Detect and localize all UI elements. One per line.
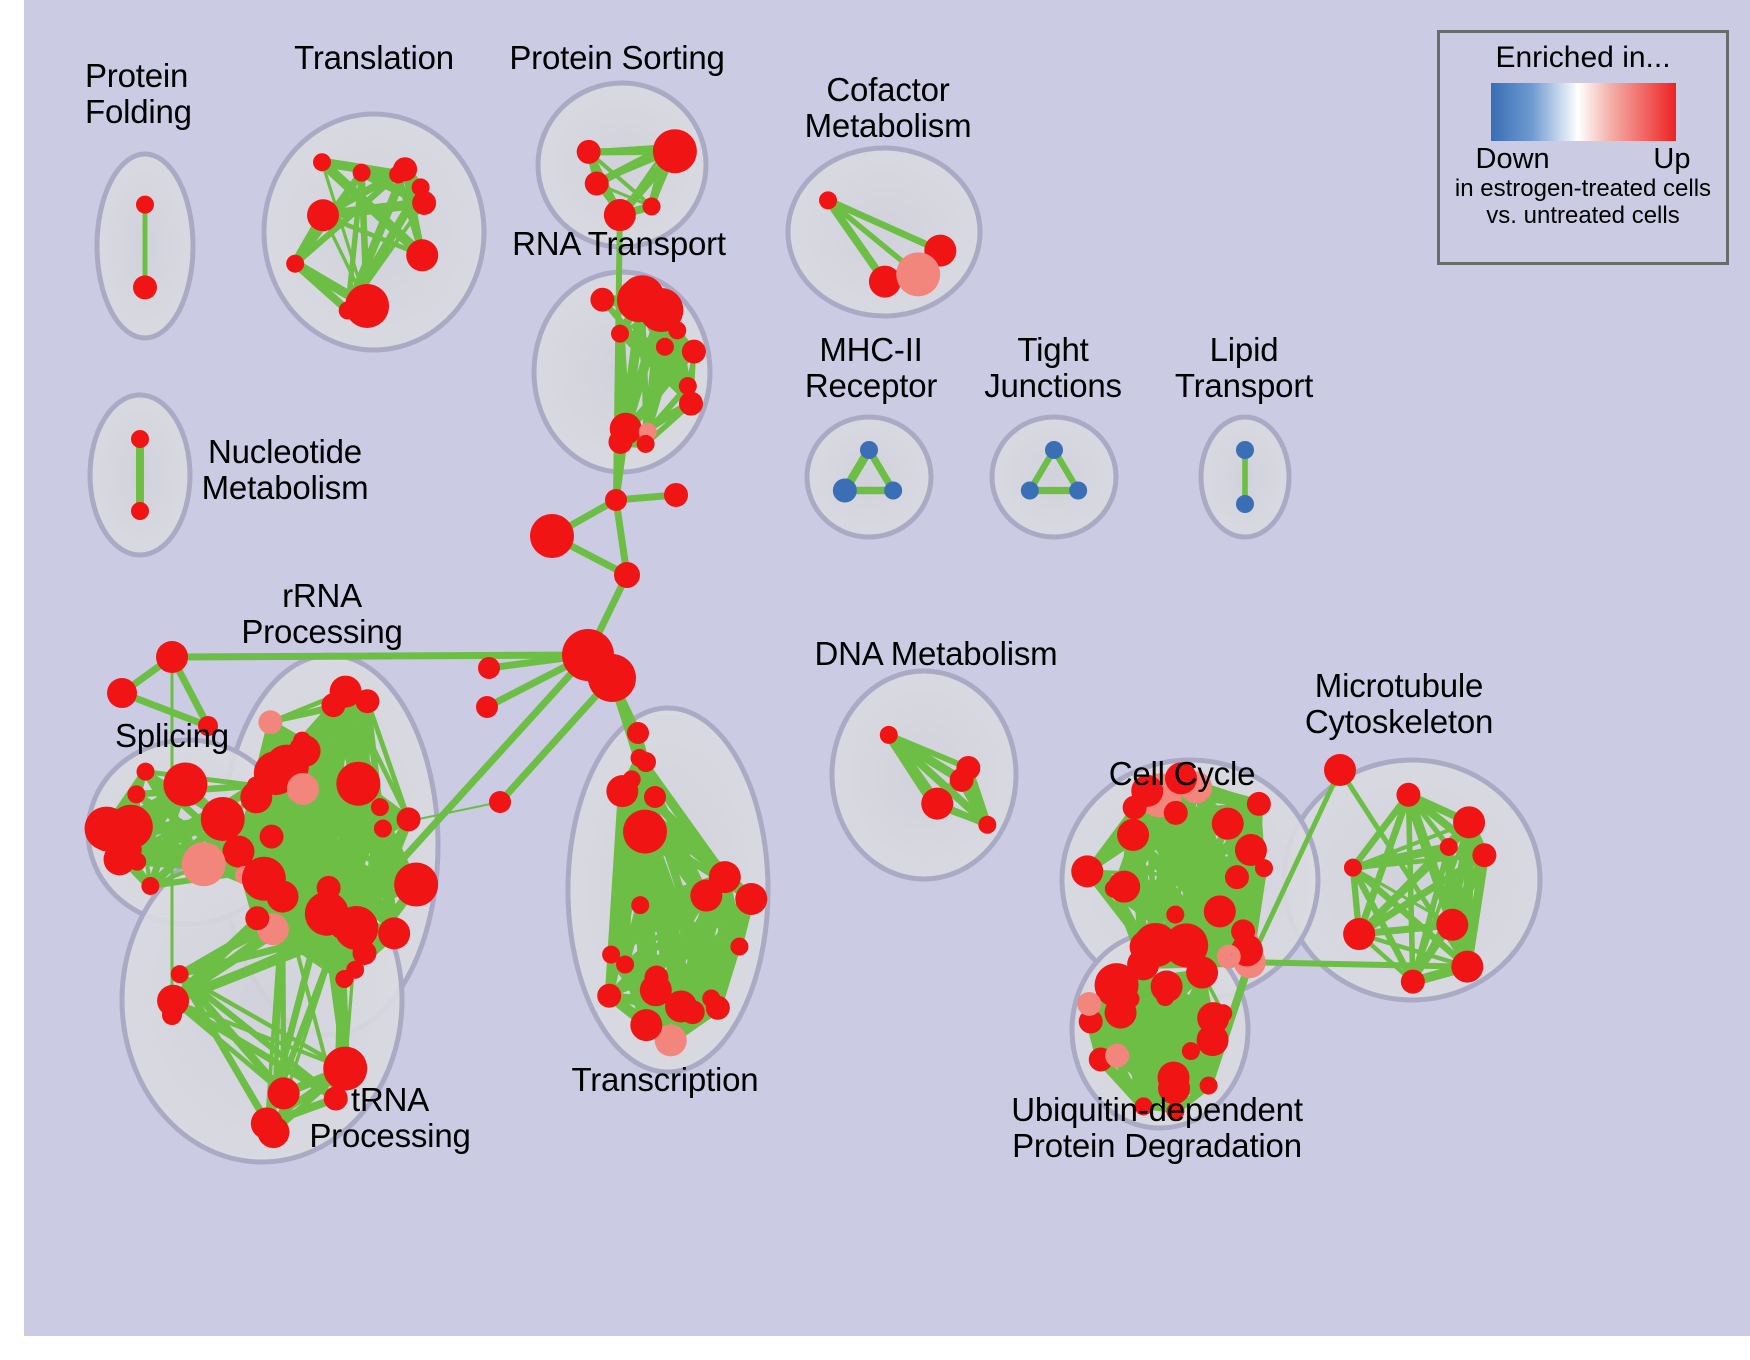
network-node-ubiquitin bbox=[1197, 1002, 1229, 1034]
enrichment-map-figure: Protein FoldingTranslationProtein Sortin… bbox=[0, 0, 1750, 1360]
cluster-label-nucleotide-metabolism: Nucleotide Metabolism bbox=[202, 434, 369, 507]
cluster-hull-tight-junctions bbox=[992, 417, 1116, 537]
network-node-microtubule bbox=[1472, 843, 1496, 867]
network-node-splicing bbox=[141, 877, 159, 895]
network-node-translation bbox=[406, 239, 438, 271]
network-node-trna-processing bbox=[267, 881, 299, 913]
network-node-cell-cycle bbox=[1166, 906, 1184, 924]
network-node-rrna-processing bbox=[394, 863, 438, 907]
network-node-cell-cycle bbox=[1247, 792, 1271, 816]
network-node-transcription bbox=[597, 984, 621, 1008]
network-node-trna-processing bbox=[268, 1077, 300, 1109]
network-node-cofactor-metabolism bbox=[819, 191, 837, 209]
network-node-rrna-processing bbox=[321, 693, 345, 717]
network-node-rrna-processing bbox=[355, 689, 379, 713]
network-node-rrna-processing bbox=[287, 773, 319, 805]
legend-title: Enriched in... bbox=[1495, 41, 1670, 75]
network-node-microtubule bbox=[1451, 951, 1483, 983]
network-node-ubiquitin bbox=[1077, 992, 1101, 1016]
network-node-backbone bbox=[605, 489, 627, 511]
cluster-hull-mhc-ii-receptor bbox=[807, 417, 931, 537]
legend-endpoints: Down Up bbox=[1476, 143, 1691, 176]
network-node-splicing bbox=[163, 762, 207, 806]
network-node-splicing bbox=[109, 805, 153, 849]
network-node-transcription bbox=[702, 989, 720, 1007]
network-node-cofactor-metabolism bbox=[869, 266, 901, 298]
network-node-nucleotide-metabolism bbox=[131, 502, 149, 520]
network-node-translation bbox=[313, 153, 331, 171]
network-node-microtubule bbox=[1440, 838, 1458, 856]
cluster-label-protein-sorting: Protein Sorting bbox=[509, 40, 724, 76]
network-node-transcription bbox=[623, 810, 667, 854]
cluster-label-dna-metabolism: DNA Metabolism bbox=[815, 636, 1058, 672]
network-node-transcription bbox=[665, 990, 697, 1022]
network-node-transcription bbox=[631, 896, 649, 914]
network-node-rna-transport bbox=[637, 435, 655, 453]
network-node-splicing bbox=[127, 785, 145, 803]
network-node-rrna-processing bbox=[378, 917, 410, 949]
network-node-ubiquitin bbox=[1166, 1065, 1184, 1083]
cluster-label-mhc-ii-receptor: MHC-II Receptor bbox=[805, 332, 937, 405]
network-node-ubiquitin bbox=[1202, 1033, 1220, 1051]
legend-caption-line1: in estrogen-treated cells bbox=[1455, 176, 1711, 203]
network-node-rna-transport bbox=[682, 340, 706, 364]
legend-panel: Enriched in... Down Up in estrogen-treat… bbox=[1437, 30, 1729, 265]
network-node-rna-transport bbox=[656, 338, 674, 356]
network-node-protein-sorting bbox=[577, 140, 601, 164]
network-node-ubiquitin bbox=[1186, 957, 1218, 989]
network-node-dna-metabolism bbox=[926, 797, 944, 815]
network-node-transcription bbox=[602, 946, 620, 964]
network-node-translation bbox=[286, 255, 304, 273]
network-node-mhc-ii-receptor bbox=[884, 482, 902, 500]
network-node-transcription bbox=[630, 1009, 662, 1041]
network-node-protein-sorting bbox=[653, 129, 697, 173]
network-node-trna-processing bbox=[317, 876, 341, 900]
network-node-transcription bbox=[730, 938, 748, 956]
network-node-backbone bbox=[1324, 754, 1356, 786]
network-node-rrna-processing bbox=[258, 710, 282, 734]
network-node-splicing bbox=[247, 777, 265, 795]
cluster-label-tight-junctions: Tight Junctions bbox=[984, 332, 1122, 405]
network-node-trna-processing bbox=[334, 906, 378, 950]
network-node-rrna-processing bbox=[371, 798, 389, 816]
cluster-label-protein-folding: Protein Folding bbox=[85, 58, 192, 131]
network-node-splicing bbox=[248, 861, 266, 879]
network-node-transcription bbox=[735, 883, 767, 915]
network-node-mhc-ii-receptor bbox=[860, 441, 878, 459]
network-node-translation bbox=[353, 164, 371, 182]
network-node-rrna-processing bbox=[289, 735, 321, 767]
network-node-cell-cycle bbox=[1212, 808, 1244, 840]
network-node-backbone bbox=[614, 562, 640, 588]
network-node-ubiquitin bbox=[1109, 991, 1127, 1009]
network-node-lipid-transport bbox=[1236, 441, 1254, 459]
network-node-backbone bbox=[644, 786, 666, 808]
network-node-cell-cycle bbox=[1071, 855, 1103, 887]
network-node-rrna-processing bbox=[374, 820, 392, 838]
legend-caption-line2: vs. untreated cells bbox=[1486, 203, 1679, 230]
network-node-cofactor-metabolism bbox=[896, 252, 940, 296]
cluster-label-cell-cycle: Cell Cycle bbox=[1109, 756, 1256, 792]
cluster-label-transcription: Transcription bbox=[572, 1062, 759, 1098]
network-node-rrna-processing bbox=[260, 825, 284, 849]
network-node-nucleotide-metabolism bbox=[131, 430, 149, 448]
cluster-label-rrna-processing: rRNA Processing bbox=[241, 578, 402, 651]
cluster-label-splicing: Splicing bbox=[115, 718, 229, 754]
network-node-trna-processing bbox=[257, 1116, 289, 1148]
network-node-transcription bbox=[630, 749, 648, 767]
network-node-protein-folding bbox=[136, 196, 154, 214]
network-node-cell-cycle bbox=[1204, 895, 1236, 927]
network-edge bbox=[172, 655, 588, 657]
network-node-ubiquitin bbox=[1105, 1044, 1129, 1068]
legend-down-label: Down bbox=[1476, 143, 1550, 176]
network-node-protein-sorting bbox=[585, 172, 609, 196]
cluster-label-translation: Translation bbox=[294, 40, 454, 76]
network-node-cell-cycle bbox=[1235, 834, 1267, 866]
network-node-backbone bbox=[107, 678, 137, 708]
network-node-rna-transport bbox=[611, 325, 629, 343]
network-node-translation bbox=[339, 301, 357, 319]
network-node-backbone bbox=[588, 654, 636, 702]
network-node-rna-transport bbox=[679, 392, 703, 416]
network-node-protein-folding bbox=[133, 275, 157, 299]
network-node-microtubule bbox=[1396, 783, 1420, 807]
network-node-splicing bbox=[201, 797, 245, 841]
network-node-microtubule bbox=[1401, 970, 1425, 994]
network-node-backbone bbox=[627, 722, 649, 744]
network-node-rrna-processing bbox=[245, 906, 269, 930]
network-node-tight-junctions bbox=[1045, 441, 1063, 459]
network-node-rna-transport bbox=[590, 288, 614, 312]
network-node-cell-cycle bbox=[1225, 865, 1249, 889]
cluster-label-ubiquitin: Ubiquitin-dependent Protein Degradation bbox=[1011, 1092, 1303, 1165]
cluster-label-trna-processing: tRNA Processing bbox=[309, 1082, 470, 1155]
network-node-microtubule bbox=[1453, 806, 1485, 838]
network-node-microtubule bbox=[1343, 918, 1375, 950]
network-node-backbone bbox=[476, 696, 498, 718]
network-node-backbone bbox=[156, 641, 188, 673]
network-node-dna-metabolism bbox=[956, 756, 980, 780]
network-node-cell-cycle bbox=[1117, 819, 1149, 851]
network-node-translation bbox=[307, 199, 339, 231]
legend-up-label: Up bbox=[1653, 143, 1690, 176]
network-node-lipid-transport bbox=[1236, 495, 1254, 513]
network-node-microtubule bbox=[1344, 859, 1362, 877]
network-node-rrna-processing bbox=[397, 807, 421, 831]
network-node-transcription bbox=[644, 966, 668, 990]
network-node-backbone bbox=[530, 514, 574, 558]
network-node-splicing bbox=[128, 853, 146, 871]
network-node-trna-processing bbox=[157, 985, 189, 1017]
network-node-transcription bbox=[606, 775, 638, 807]
legend-color-bar bbox=[1491, 83, 1676, 141]
network-node-ubiquitin bbox=[1156, 988, 1174, 1006]
network-node-mhc-ii-receptor bbox=[833, 479, 857, 503]
network-node-splicing bbox=[137, 763, 155, 781]
network-node-tight-junctions bbox=[1069, 482, 1087, 500]
network-node-dna-metabolism bbox=[880, 726, 898, 744]
network-node-rna-transport bbox=[608, 430, 632, 454]
cluster-hull-dna-metabolism bbox=[832, 671, 1016, 879]
network-node-backbone bbox=[489, 791, 511, 813]
network-node-dna-metabolism bbox=[978, 816, 996, 834]
network-node-trna-processing bbox=[171, 965, 189, 983]
network-node-cell-cycle bbox=[1130, 931, 1162, 963]
network-node-backbone bbox=[664, 483, 688, 507]
network-node-cell-cycle bbox=[1105, 880, 1123, 898]
network-node-tight-junctions bbox=[1021, 482, 1039, 500]
network-node-translation bbox=[393, 157, 417, 181]
network-node-cell-cycle bbox=[1217, 945, 1241, 969]
network-node-cell-cycle bbox=[1231, 919, 1255, 943]
network-node-cell-cycle bbox=[1164, 801, 1188, 825]
cluster-label-microtubule: Microtubule Cytoskeleton bbox=[1305, 668, 1493, 741]
cluster-label-lipid-transport: Lipid Transport bbox=[1175, 332, 1313, 405]
network-node-backbone bbox=[478, 657, 500, 679]
network-node-ubiquitin bbox=[1182, 1042, 1200, 1060]
cluster-label-cofactor-metabolism: Cofactor Metabolism bbox=[805, 72, 972, 145]
network-node-translation bbox=[412, 191, 436, 215]
network-node-protein-sorting bbox=[643, 197, 661, 215]
network-node-rrna-processing bbox=[336, 762, 380, 806]
network-node-rna-transport bbox=[634, 297, 652, 315]
network-node-splicing bbox=[182, 842, 226, 886]
network-node-microtubule bbox=[1436, 909, 1468, 941]
network-node-transcription bbox=[690, 880, 722, 912]
cluster-label-rna-transport: RNA Transport bbox=[512, 226, 726, 262]
